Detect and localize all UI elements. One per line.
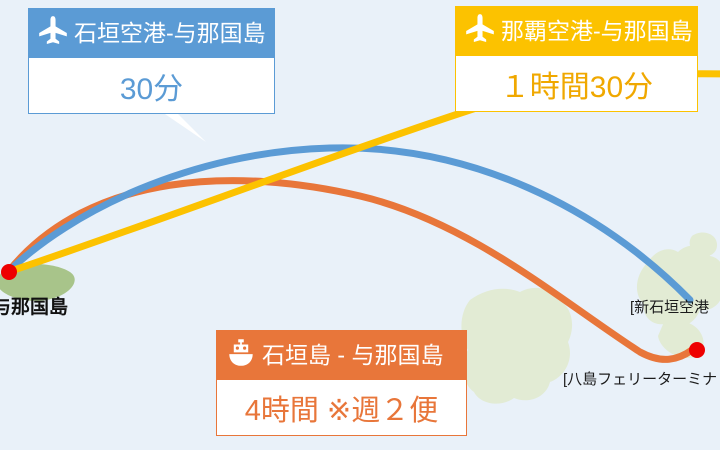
route-card-title-air-naha: 那覇空港-与那国島 [501,20,693,43]
route-card-air-naha[interactable]: 那覇空港-与那国島 １時間30分 [455,6,698,112]
route-card-title-air-ishigaki: 石垣空港-与那国島 [74,22,266,45]
route-card-duration-air-naha: １時間30分 [455,56,698,112]
route-map-infographic: 与那国島 [新石垣空港 [八島フェリーターミナ 石垣空港-与那国島 30分 那覇… [0,0,720,450]
ship-icon [224,336,258,375]
route-card-ferry-ishigaki[interactable]: 石垣島 - 与那国島 4時間 ※週２便 [216,330,467,436]
route-card-duration-air-ishigaki: 30分 [28,58,275,114]
map-label-yonaguni: 与那国島 [0,298,68,317]
airplane-icon [36,14,70,53]
map-label-ishigaki-airport: [新石垣空港 [630,300,709,315]
route-card-header-air-ishigaki: 石垣空港-与那国島 [28,8,275,58]
route-card-header-ferry-ishigaki: 石垣島 - 与那国島 [216,330,467,380]
destination-marker-ferry-terminal [689,342,705,358]
origin-marker-yonaguni [1,264,17,280]
map-label-ferry-terminal: [八島フェリーターミナ [563,372,717,387]
route-card-title-ferry-ishigaki: 石垣島 - 与那国島 [262,344,443,367]
route-card-air-ishigaki[interactable]: 石垣空港-与那国島 30分 [28,8,275,114]
route-card-header-air-naha: 那覇空港-与那国島 [455,6,698,56]
airplane-icon [463,12,497,51]
route-card-duration-ferry-ishigaki: 4時間 ※週２便 [216,380,467,436]
